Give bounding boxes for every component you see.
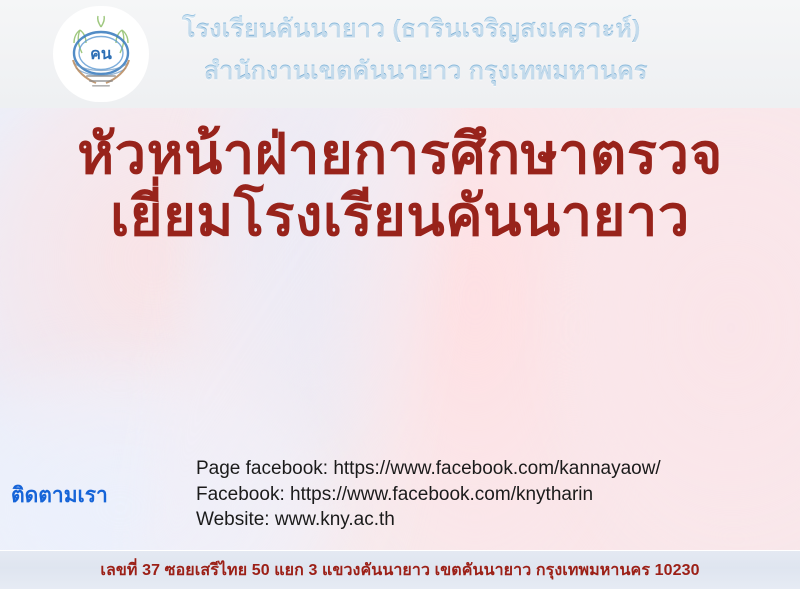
- page-title: หัวหน้าฝ่ายการศึกษาตรวจ เยี่ยมโรงเรียนคั…: [0, 123, 800, 247]
- footer-address-text: เลขที่ 37 ซอยเสรีไทย 50 แยก 3 แขวงคันนาย…: [100, 558, 699, 583]
- district-office-line: สำนักงานเขตคันนายาว กรุงเทพมหานคร: [182, 50, 782, 92]
- contact-line-facebook[interactable]: Facebook: https://www.facebook.com/knyth…: [196, 482, 661, 508]
- page-title-line-2: เยี่ยมโรงเรียนคันนายาว: [0, 185, 800, 247]
- follow-us-label: ติดตามเรา: [11, 479, 108, 512]
- emblem-svg: คน: [62, 13, 140, 95]
- slide-canvas: คน: [0, 0, 800, 600]
- header-bar: คน: [0, 0, 800, 108]
- contact-line-website[interactable]: Website: www.kny.ac.th: [196, 507, 661, 533]
- page-title-line-1: หัวหน้าฝ่ายการศึกษาตรวจ: [0, 123, 800, 185]
- header-text-group: โรงเรียนคันนายาว (ธารินเจริญสงเคราะห์) ส…: [182, 8, 782, 92]
- school-emblem-logo-icon: คน: [62, 13, 140, 95]
- contact-line-page-facebook[interactable]: Page facebook: https://www.facebook.com/…: [196, 456, 661, 482]
- school-logo-badge: คน: [53, 6, 149, 102]
- footer-bar: เลขที่ 37 ซอยเสรีไทย 50 แยก 3 แขวงคันนาย…: [0, 551, 800, 589]
- school-name-line: โรงเรียนคันนายาว (ธารินเจริญสงเคราะห์): [182, 8, 782, 50]
- svg-text:คน: คน: [90, 44, 112, 63]
- contact-info-block: Page facebook: https://www.facebook.com/…: [196, 456, 661, 533]
